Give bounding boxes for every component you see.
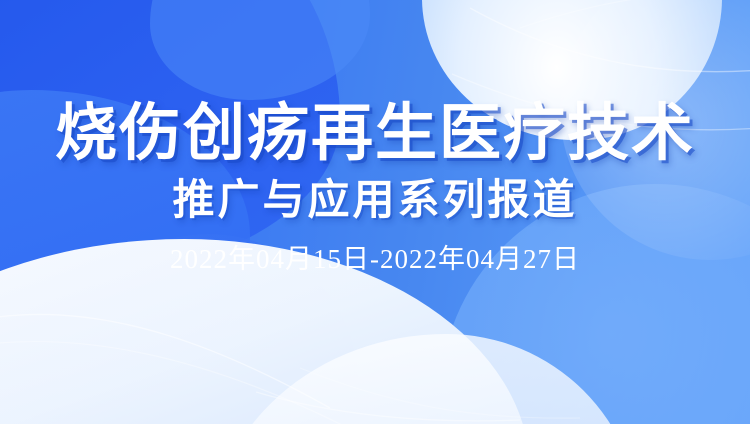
banner-text-block: 烧伤创疡再生医疗技术 推广与应用系列报道 2022年04月15日-2022年04… [0, 0, 750, 424]
banner-date-range: 2022年04月15日-2022年04月27日 [170, 245, 580, 275]
banner-title-subtitle: 推广与应用系列报道 [172, 178, 577, 222]
promo-banner: 烧伤创疡再生医疗技术 推广与应用系列报道 2022年04月15日-2022年04… [0, 0, 750, 424]
banner-title-main: 烧伤创疡再生医疗技术 [55, 102, 695, 166]
